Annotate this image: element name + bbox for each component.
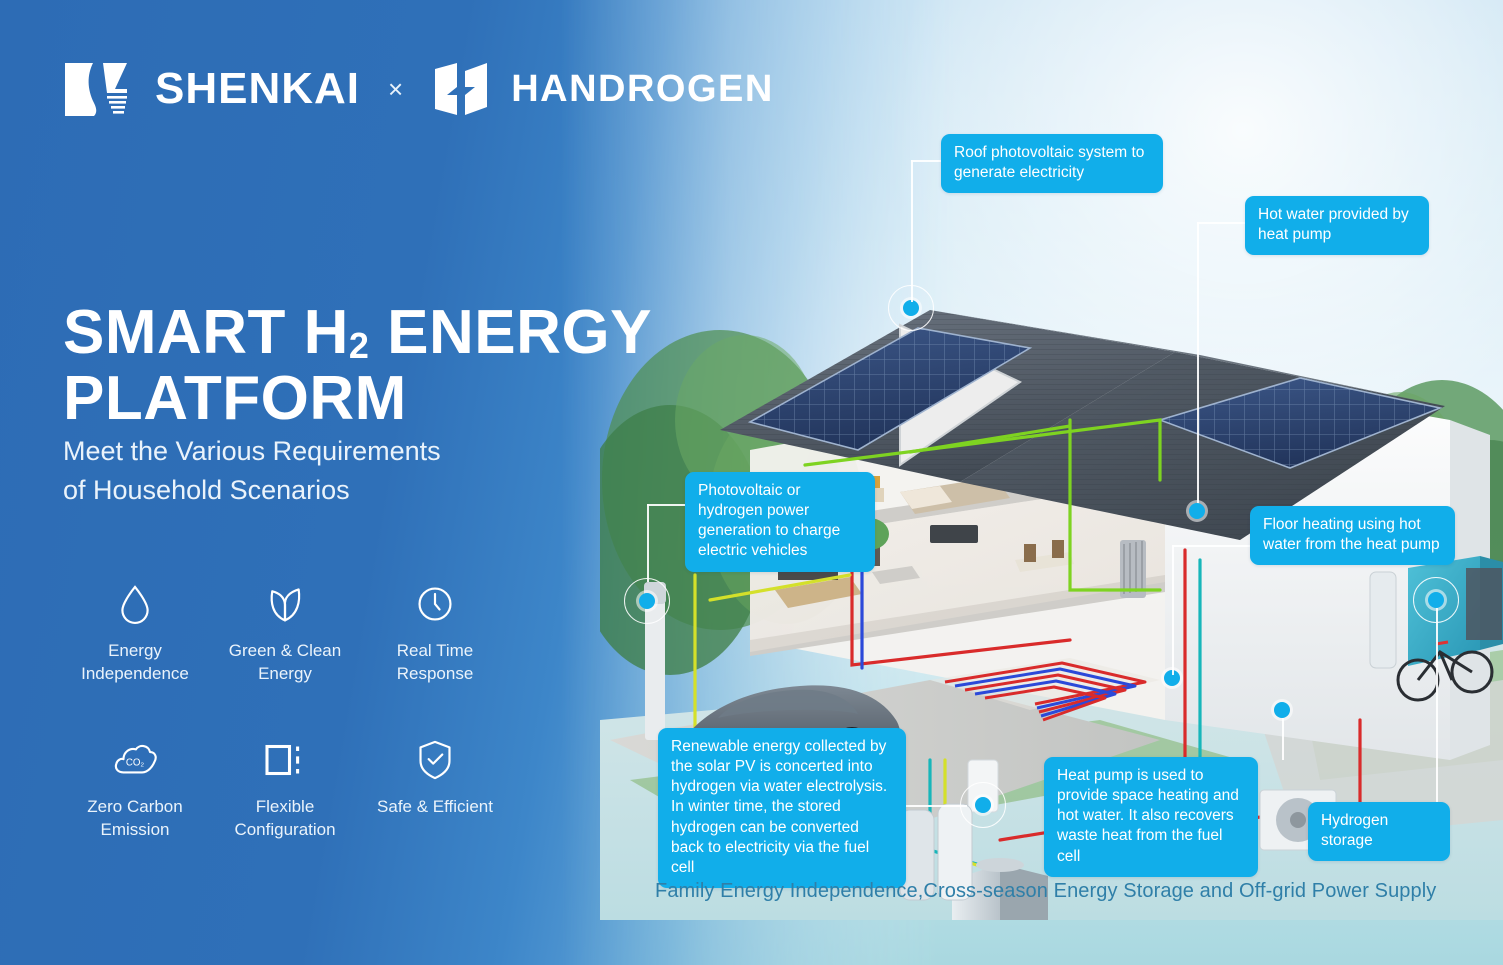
- feature-label: Safe & Efficient: [360, 796, 510, 819]
- marker-dot-roof-pv[interactable]: [903, 300, 919, 316]
- subtitle-line-2: of Household Scenarios: [63, 471, 563, 510]
- brand-logo-row: SHENKAI × HANDROGEN: [63, 59, 774, 119]
- co2-cloud-icon: CO₂: [60, 734, 210, 786]
- svg-text:CO₂: CO₂: [126, 757, 145, 768]
- feature-green-clean-energy: Green & Clean Energy: [210, 578, 360, 686]
- dining-chair-b: [1052, 540, 1064, 558]
- feature-row-2: CO₂ Zero Carbon Emission: [60, 734, 510, 842]
- brand-primary-name: SHENKAI: [155, 67, 360, 111]
- feature-label-line1: Zero Carbon: [60, 796, 210, 819]
- feature-flexible-configuration: Flexible Configuration: [210, 734, 360, 842]
- feature-label: Energy Independence: [60, 640, 210, 686]
- hot-water-tank: [1370, 572, 1396, 668]
- feature-label-line1: Flexible: [210, 796, 360, 819]
- page-title: SMART H2 ENERGYPLATFORM: [63, 300, 703, 434]
- callout-roof-pv[interactable]: Roof photovoltaic system to generate ele…: [941, 134, 1163, 193]
- feature-energy-independence: Energy Independence: [60, 578, 210, 686]
- water-drop-icon: [60, 578, 210, 630]
- feature-grid: Energy Independence Green & Clean Energy: [60, 578, 510, 842]
- leader-line-floor-heating-horizontal: [1172, 545, 1250, 547]
- clock-icon: [360, 578, 510, 630]
- callout-heat-pump[interactable]: Heat pump is used to provide space heati…: [1044, 757, 1258, 877]
- title-subscript: 2: [349, 325, 370, 366]
- feature-label-line2: Response: [360, 663, 510, 686]
- feature-label-line1: Real Time: [360, 640, 510, 663]
- feature-label-line2: Independence: [60, 663, 210, 686]
- marker-dot-heat-pump[interactable]: [1274, 702, 1290, 718]
- feature-safe-efficient: Safe & Efficient: [360, 734, 510, 842]
- left-content-panel: SHENKAI × HANDROGEN SMART H2 ENERGYPLATF…: [0, 0, 620, 965]
- leader-line-heat-pump: [1282, 718, 1284, 760]
- infographic-poster: SHENKAI × HANDROGEN SMART H2 ENERGYPLATF…: [0, 0, 1503, 965]
- feature-label-line2: Energy: [210, 663, 360, 686]
- leader-line-roof-pv-horizontal: [911, 160, 941, 162]
- title-line-2: PLATFORM: [63, 364, 407, 433]
- subtitle-line-1: Meet the Various Requirements: [63, 432, 563, 471]
- leader-line-ev-vertical: [647, 504, 649, 582]
- callout-hot-water[interactable]: Hot water provided by heat pump: [1245, 196, 1429, 255]
- title-part-2: ENERGY: [369, 298, 652, 367]
- feature-real-time-response: Real Time Response: [360, 578, 510, 686]
- callout-ev-charging[interactable]: Photovoltaic or hydrogen power generatio…: [685, 472, 875, 572]
- callout-hydrogen-storage[interactable]: Hydrogen storage: [1308, 802, 1450, 861]
- feature-zero-carbon-emission: CO₂ Zero Carbon Emission: [60, 734, 210, 842]
- leaf-icon: [210, 578, 360, 630]
- handrogen-logo-mark: [431, 61, 493, 117]
- leader-line-floor-heating-vertical: [1172, 545, 1174, 675]
- marker-dot-hot-water[interactable]: [1189, 503, 1205, 519]
- leader-line-hot-water-vertical: [1197, 222, 1199, 510]
- callout-fuel-cell[interactable]: Renewable energy collected by the solar …: [658, 728, 906, 888]
- title-part-1: SMART H: [63, 298, 349, 367]
- shield-check-icon: [360, 734, 510, 786]
- feature-label: Real Time Response: [360, 640, 510, 686]
- leader-line-fuel-cell: [905, 805, 967, 807]
- shenkai-logo-mark: [63, 59, 137, 119]
- marker-dot-hydrogen-storage[interactable]: [1428, 592, 1444, 608]
- footer-caption: Family Energy Independence,Cross-season …: [655, 880, 1485, 903]
- tv-unit: [930, 525, 978, 543]
- leader-line-hot-water-horizontal: [1197, 222, 1245, 224]
- page-subtitle: Meet the Various Requirements of Househo…: [63, 432, 563, 510]
- leader-line-ev-horizontal: [647, 504, 685, 506]
- marker-dot-ev-charging[interactable]: [639, 593, 655, 609]
- feature-label-line1: Energy: [60, 640, 210, 663]
- feature-label: Green & Clean Energy: [210, 640, 360, 686]
- feature-label: Flexible Configuration: [210, 796, 360, 842]
- callout-floor-heating[interactable]: Floor heating using hot water from the h…: [1250, 506, 1455, 565]
- feature-label-line2: Emission: [60, 819, 210, 842]
- leader-line-roof-pv-vertical: [911, 160, 913, 302]
- hp-grille: [1466, 568, 1502, 640]
- feature-label-line2: Configuration: [210, 819, 360, 842]
- modular-blocks-icon: [210, 734, 360, 786]
- feature-label-line1: Safe & Efficient: [360, 796, 510, 819]
- brand-secondary-name: HANDROGEN: [511, 70, 774, 108]
- feature-row-1: Energy Independence Green & Clean Energy: [60, 578, 510, 686]
- feature-label: Zero Carbon Emission: [60, 796, 210, 842]
- dining-chair-a: [1024, 544, 1036, 562]
- feature-label-line1: Green & Clean: [210, 640, 360, 663]
- marker-dot-fuel-cell[interactable]: [975, 797, 991, 813]
- brand-separator-x: ×: [388, 74, 403, 105]
- leader-line-hydrogen-storage: [1436, 608, 1438, 804]
